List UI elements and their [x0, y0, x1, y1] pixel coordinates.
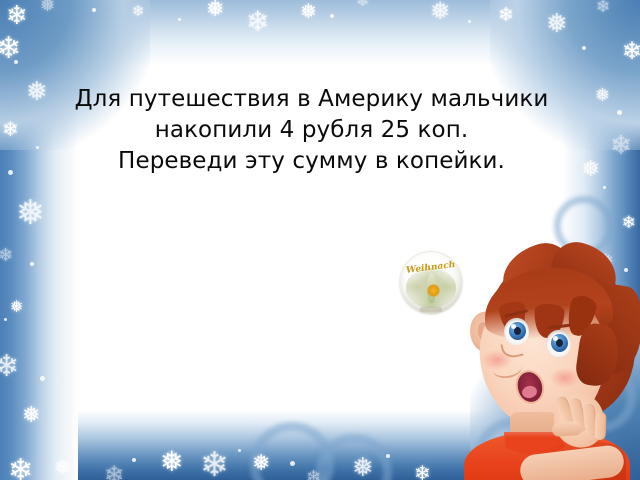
snow-dot — [132, 458, 136, 462]
snow-dot — [238, 449, 241, 452]
snowflake-icon: ❅ — [40, 0, 55, 14]
snowflake-icon: ❅ — [10, 300, 23, 316]
problem-statement-text: Для путешествия в Америку мальчики накоп… — [48, 84, 575, 177]
snowflake-icon: ❄ — [8, 456, 33, 480]
snow-dot — [4, 318, 7, 321]
snowflake-icon: ❅ — [54, 458, 71, 478]
snowflake-icon: ❅ — [352, 454, 374, 480]
snow-dot — [40, 376, 45, 381]
snowflake-icon: ❅ — [160, 448, 183, 476]
snow-dot — [386, 454, 390, 458]
snowflake-icon: ❄ — [0, 34, 21, 64]
thinking-boy-illustration — [448, 246, 640, 480]
snowflake-icon: ❄ — [132, 4, 145, 19]
snowflake-icon: ❄ — [2, 120, 19, 140]
snowflake-icon: ❅ — [430, 0, 450, 24]
slide-canvas: ❄ ❅ ❄ ❅ ❄ ❅ ❄ ❅ ❄ ❅ ❄ ❄ ❅ ❄ ❅ ❄ ❅ ❄ ❅ ❄ … — [0, 0, 640, 480]
snow-dot — [290, 461, 295, 466]
snowflake-icon: ❄ — [596, 0, 610, 15]
snow-dot — [92, 8, 96, 12]
snowflake-icon: ❅ — [16, 196, 45, 230]
snow-globe-base — [420, 307, 442, 311]
snowflake-icon: ❄ — [498, 6, 514, 25]
snow-dot — [603, 186, 606, 189]
snowflake-icon: ❅ — [300, 2, 317, 22]
snowflake-icon: ❅ — [22, 404, 40, 426]
snowflake-icon: ❄ — [306, 468, 321, 480]
snowflake-icon: ❄ — [414, 464, 431, 480]
snowflake-icon: ❄ — [6, 2, 28, 28]
snow-dot — [8, 170, 13, 175]
snow-dot — [14, 60, 18, 64]
snowflake-icon: ❄ — [246, 8, 269, 36]
snowflake-icon: ❅ — [546, 10, 568, 36]
snowflake-icon: ❄ — [356, 0, 369, 10]
snow-dot — [617, 110, 622, 115]
snowflake-icon: ❄ — [0, 352, 19, 382]
snowflake-icon: ❅ — [206, 0, 224, 20]
snowflake-icon: ❄ — [200, 448, 229, 480]
snow-dot — [330, 14, 334, 18]
snowflake-icon: ❄ — [622, 40, 640, 64]
snowflake-icon: ❅ — [26, 78, 48, 104]
snowflake-icon: ❅ — [252, 452, 270, 474]
snow-dot — [468, 20, 471, 23]
snowflake-icon: ❄ — [104, 464, 124, 480]
snow-dot — [36, 146, 39, 149]
snow-globe-star-icon — [427, 284, 440, 297]
boy-finger — [595, 412, 607, 440]
snowflake-icon: ❄ — [0, 246, 13, 264]
snowflake-icon: ❄ — [610, 132, 632, 158]
boy-eye-glint — [511, 324, 516, 329]
snowflake-icon: ❄ — [622, 214, 636, 231]
snowflake-icon: ❅ — [595, 86, 610, 104]
snow-dot — [30, 262, 34, 266]
boy-eye-glint — [553, 336, 558, 341]
snow-dot — [178, 18, 181, 21]
boy-thumb — [552, 421, 583, 437]
